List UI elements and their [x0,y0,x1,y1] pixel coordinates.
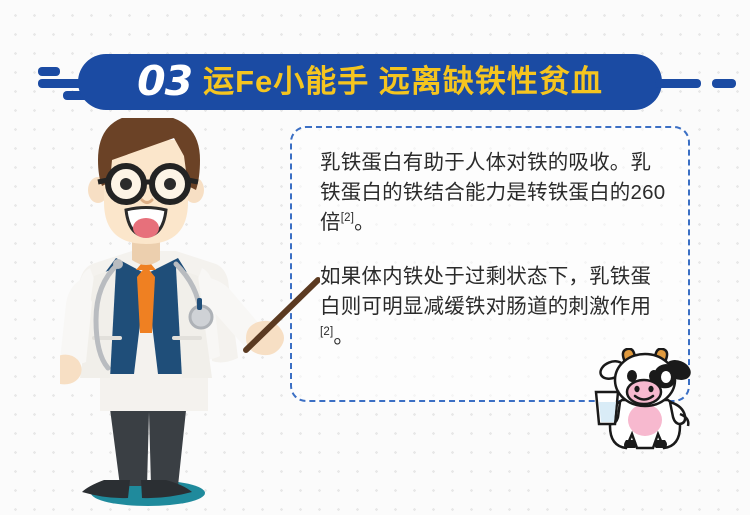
paragraph-2-text: 如果体内铁处于过剩状态下，乳铁蛋白则可明显减缓铁对肠道的刺激作用 [320,265,651,318]
stethoscope-earpiece-left [113,259,123,269]
glasses-temple-left [98,180,108,182]
paragraph-2-citation: [2] [320,326,333,338]
coat-pocket-right [172,336,202,340]
cow-nostril-right [648,386,653,392]
paragraph-2-tail: 。 [333,325,354,348]
infographic-poster: 03 运Fe小能手 远离缺铁性贫血 乳铁蛋白有助于人体对铁的吸收。乳铁蛋白的铁结… [0,0,750,515]
cow-nostril-left [634,386,639,392]
paragraph-1-tail: 。 [354,211,375,234]
title-banner-area: 03 运Fe小能手 远离缺铁性贫血 [0,26,750,84]
paragraph-group: 乳铁蛋白有助于人体对铁的吸收。乳铁蛋白的铁结合能力是转铁蛋白的260倍[2]。 … [320,148,668,352]
cow-spot-head-inner [661,371,671,383]
paragraph-1-citation: [2] [341,212,354,224]
decorative-dash-left-top [38,67,60,76]
eye-left [120,178,132,190]
shoe-left [82,480,130,498]
decorative-dash-right-short [712,79,736,88]
title-banner: 03 运Fe小能手 远离缺铁性贫血 [78,54,662,110]
decorative-dash-right-long [655,79,701,88]
doctor-illustration [60,118,320,513]
milk-liquid [599,402,616,422]
paragraph-2: 如果体内铁处于过剩状态下，乳铁蛋白则可明显减缓铁对肠道的刺激作用[2]。 [320,262,668,352]
cow-belly [628,404,662,436]
cow-hoof-right [655,440,668,448]
cow-mascot [588,348,706,452]
stethoscope-connector [197,298,202,310]
necktie [137,266,155,333]
hand-right [246,321,284,355]
cow-hoof-left [624,440,637,448]
eye-right [164,178,176,190]
tongue [133,218,159,238]
section-title: 运Fe小能手 远离缺铁性贫血 [203,66,603,97]
glasses-temple-right [188,180,198,182]
section-number: 03 [137,61,192,102]
paragraph-1: 乳铁蛋白有助于人体对铁的吸收。乳铁蛋白的铁结合能力是转铁蛋白的260倍[2]。 [320,148,668,238]
cow-eye-left [627,370,637,382]
